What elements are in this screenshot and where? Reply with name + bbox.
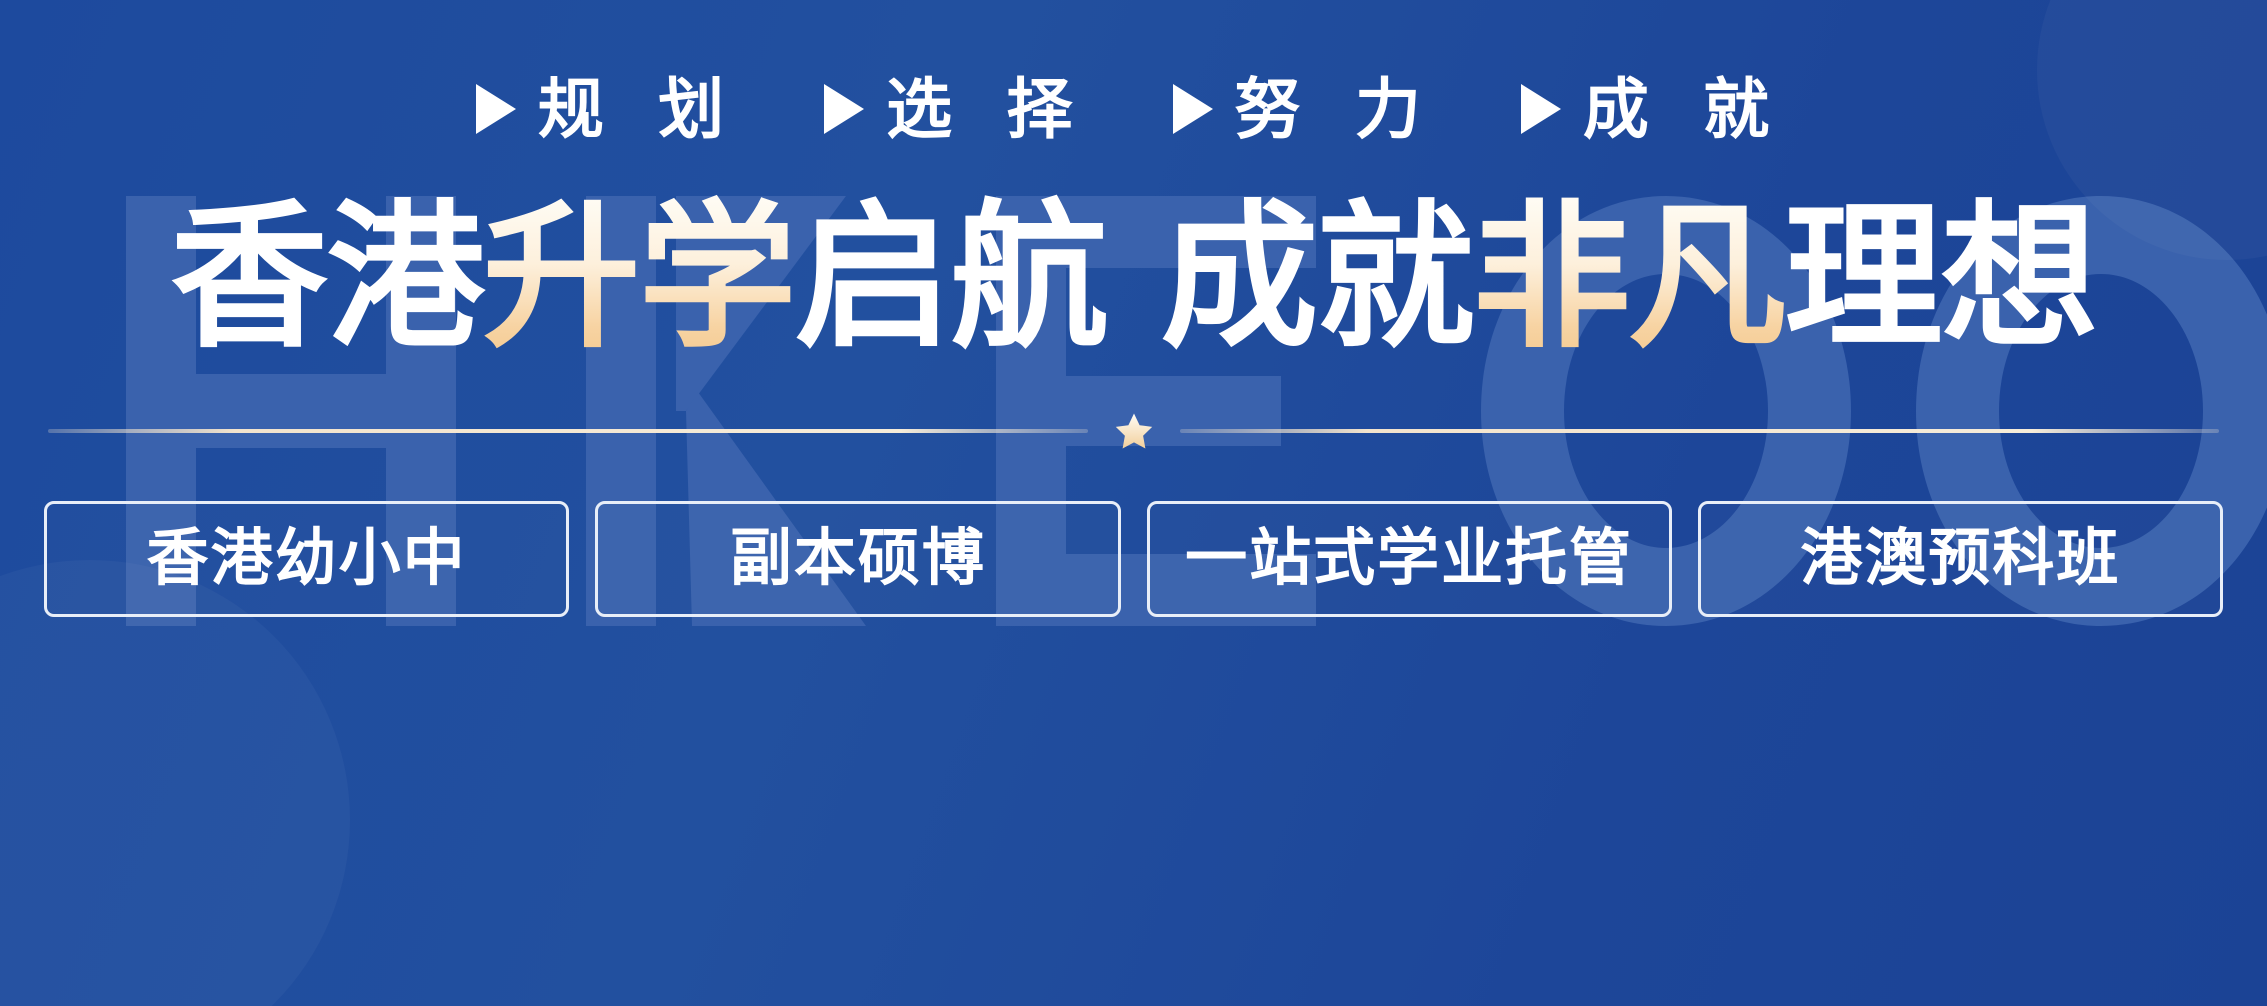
star-divider: [44, 411, 2223, 451]
keyword-item-effort: 努 力: [1173, 76, 1443, 142]
headline-seg1-after: 启航: [795, 190, 1107, 366]
keyword-item-planning: 规 划: [476, 76, 746, 142]
keyword-label-choice: 选 择: [886, 76, 1094, 142]
triangle-right-icon: [1173, 84, 1213, 134]
promotional-banner: 规 划 选 择 努 力 成 就 香港升学启航 成就非凡理想: [0, 0, 2267, 1006]
headline-segment-1: 香港升学启航: [171, 198, 1107, 359]
headline-seg2-accent: 非凡: [1473, 190, 1785, 366]
headline-seg2-after: 理想: [1785, 190, 2097, 366]
keyword-label-achievement: 成 就: [1583, 76, 1791, 142]
triangle-right-icon: [824, 84, 864, 134]
keyword-row: 规 划 选 择 努 力 成 就: [44, 76, 2223, 142]
tag-label: 一站式学业托管: [1185, 528, 1633, 590]
tag-label: 香港幼小中: [147, 528, 467, 590]
page-title: 香港升学启航 成就非凡理想: [44, 198, 2223, 359]
headline-seg1-accent: 升学: [483, 190, 795, 366]
headline-segment-2: 成就非凡理想: [1161, 198, 2097, 359]
keyword-item-achievement: 成 就: [1521, 76, 1791, 142]
tag-box-one-stop-academic-custody[interactable]: 一站式学业托管: [1147, 501, 1672, 617]
tag-label: 港澳预科班: [1800, 528, 2120, 590]
tag-box-hk-macau-foundation-class[interactable]: 港澳预科班: [1698, 501, 2223, 617]
service-tag-row: 香港幼小中 副本硕博 一站式学业托管 港澳预科班: [44, 501, 2223, 617]
headline-seg2-before: 成就: [1161, 190, 1473, 366]
divider-line-left: [48, 429, 1088, 433]
tag-label: 副本硕博: [730, 528, 986, 590]
keyword-item-choice: 选 择: [824, 76, 1094, 142]
star-icon: [1114, 411, 1154, 451]
keyword-label-effort: 努 力: [1235, 76, 1443, 142]
tag-box-kindergarten-primary-secondary[interactable]: 香港幼小中: [44, 501, 569, 617]
tag-box-associate-bachelor-master-phd[interactable]: 副本硕博: [595, 501, 1120, 617]
keyword-label-planning: 规 划: [538, 76, 746, 142]
triangle-right-icon: [1521, 84, 1561, 134]
divider-line-right: [1180, 429, 2220, 433]
banner-content: 规 划 选 择 努 力 成 就 香港升学启航 成就非凡理想: [0, 0, 2267, 1006]
triangle-right-icon: [476, 84, 516, 134]
headline-seg1-before: 香港: [171, 190, 483, 366]
